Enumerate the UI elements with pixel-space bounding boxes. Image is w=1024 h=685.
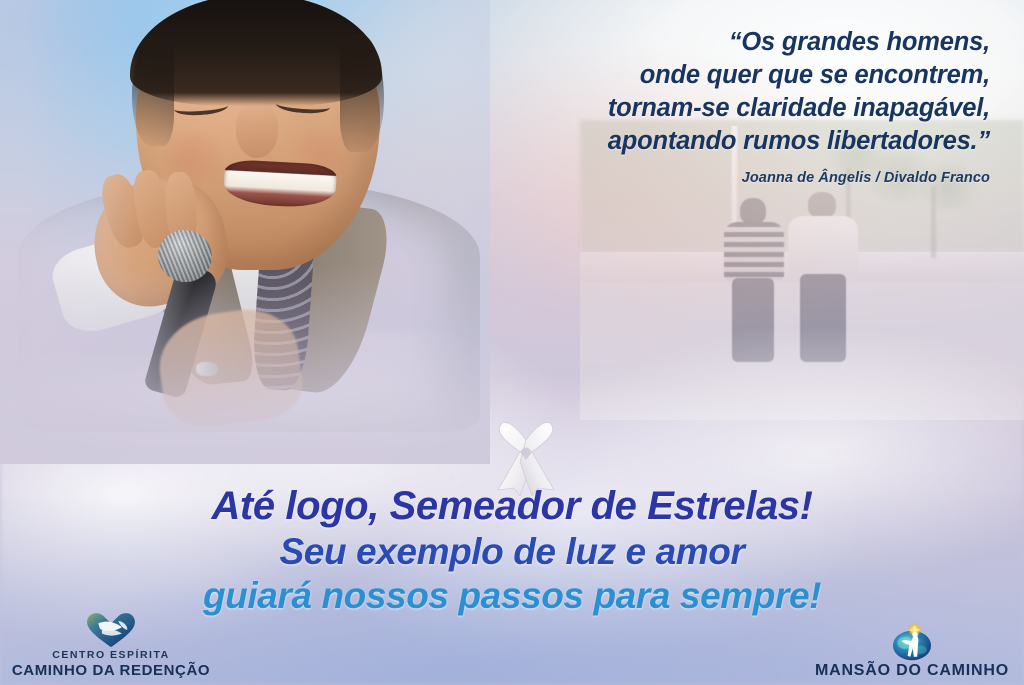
logo-centro-espirita[interactable]: CENTRO ESPÍRITA CAMINHO DA REDENÇÃO (8, 609, 214, 679)
logo-left-line-1: CENTRO ESPÍRITA (8, 649, 214, 662)
white-ribbon-icon (484, 410, 568, 496)
speaker-portrait (10, 0, 480, 424)
quote-line-1: “Os grandes homens, (430, 26, 990, 59)
memorial-poster: “Os grandes homens, onde quer que se enc… (0, 0, 1024, 685)
quote-block: “Os grandes homens, onde quer que se enc… (430, 26, 990, 186)
heart-with-hands-icon (8, 609, 214, 649)
quote-line-2: onde quer que se encontrem, (430, 59, 990, 92)
quote-line-3: tornam-se claridade inapagável, (430, 92, 990, 125)
quote-line-4: apontando rumos libertadores.” (430, 125, 990, 158)
logo-mansao-do-caminho[interactable]: MANSÃO DO CAMINHO (806, 622, 1018, 679)
logo-right-line-2: MANSÃO DO CAMINHO (806, 662, 1018, 679)
globe-with-figure-and-star-icon (806, 622, 1018, 662)
headline-block: Até logo, Semeador de Estrelas! Seu exem… (0, 486, 1024, 614)
headline-line-2: Seu exemplo de luz e amor (0, 533, 1024, 570)
quote-attribution: Joanna de Ângelis / Divaldo Franco (430, 170, 990, 186)
logo-left-line-2: CAMINHO DA REDENÇÃO (8, 662, 214, 679)
